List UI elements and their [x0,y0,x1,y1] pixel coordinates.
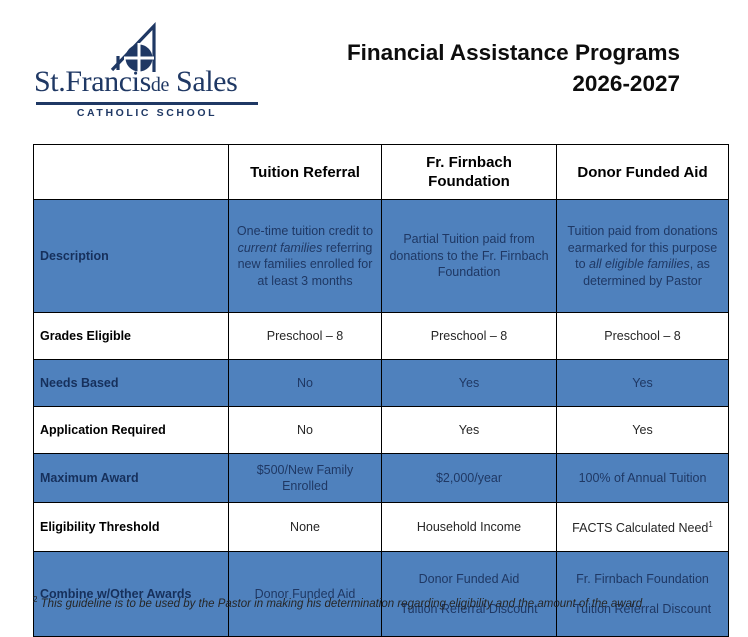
page-header: St.Francisde Sales CATHOLIC SCHOOL Finan… [0,0,748,132]
cell-description-firnbach: Partial Tuition paid from donations to t… [382,200,557,313]
desc-dn-em: all eligible families [589,257,690,271]
page-title: Financial Assistance Programs 2026-2027 [347,38,680,100]
logo-divider [36,102,258,105]
header-cell-tuition-referral: Tuition Referral [229,145,382,200]
logo-subtitle: CATHOLIC SCHOOL [34,107,260,119]
table-row-maximum-award: Maximum Award $500/New Family Enrolled $… [34,454,729,503]
cell-description-tuition-referral: One-time tuition credit to current famil… [229,200,382,313]
cell-eligibility-donor: FACTS Calculated Need1 [557,503,729,552]
cell-description-donor: Tuition paid from donations earmarked fo… [557,200,729,313]
table-row-needs-based: Needs Based No Yes Yes [34,360,729,407]
footnote-marker-1: 1 [708,520,712,529]
cell-max-award-tuition-referral: $500/New Family Enrolled [229,454,382,503]
logo-text-sales: Sales [176,65,237,98]
cell-needs-tuition-referral: No [229,360,382,407]
programs-table-container: Tuition Referral Fr. Firnbach Foundation… [33,144,728,637]
table-row-application-required: Application Required No Yes Yes [34,407,729,454]
row-label-maximum-award: Maximum Award [34,454,229,503]
cell-grades-donor: Preschool – 8 [557,313,729,360]
cell-max-award-donor: 100% of Annual Tuition [557,454,729,503]
cell-eligibility-firnbach: Household Income [382,503,557,552]
row-label-description: Description [34,200,229,313]
desc-tr-em: current families [238,241,323,255]
page-title-line2: 2026-2027 [347,68,680,100]
combine-donor-line1: Fr. Firnbach Foundation [563,571,722,588]
cell-eligibility-donor-text: FACTS Calculated Need [572,521,708,535]
financial-assistance-programs-table: Tuition Referral Fr. Firnbach Foundation… [33,144,729,637]
cell-needs-donor: Yes [557,360,729,407]
row-label-needs-based: Needs Based [34,360,229,407]
logo-text-st: St. [34,65,65,98]
desc-tr-pre: One-time tuition credit to [237,224,373,238]
table-header-row: Tuition Referral Fr. Firnbach Foundation… [34,145,729,200]
logo-text-de: de [151,74,169,96]
row-label-application-required: Application Required [34,407,229,454]
page-title-line1: Financial Assistance Programs [347,38,680,68]
row-label-grades-eligible: Grades Eligible [34,313,229,360]
cell-eligibility-tuition-referral: None [229,503,382,552]
logo-text-francis: Francis [65,65,151,98]
table-row-description: Description One-time tuition credit to c… [34,200,729,313]
footnote: 2 This guideline is to be used by the Pa… [33,592,673,612]
cell-application-donor: Yes [557,407,729,454]
table-row-grades-eligible: Grades Eligible Preschool – 8 Preschool … [34,313,729,360]
cell-application-tuition-referral: No [229,407,382,454]
school-logo: St.Francisde Sales CATHOLIC SCHOOL [34,22,264,122]
cell-needs-firnbach: Yes [382,360,557,407]
header-cell-firnbach-foundation: Fr. Firnbach Foundation [382,145,557,200]
footnote-text: This guideline is to be used by the Past… [41,598,643,610]
header-cell-blank [34,145,229,200]
cell-max-award-firnbach: $2,000/year [382,454,557,503]
footnote-marker-2: 2 [33,595,37,604]
row-label-eligibility-threshold: Eligibility Threshold [34,503,229,552]
header-cell-donor-funded-aid: Donor Funded Aid [557,145,729,200]
logo-wordmark: St.Francisde Sales [34,66,260,101]
table-row-eligibility-threshold: Eligibility Threshold None Household Inc… [34,503,729,552]
combine-firnbach-line1: Donor Funded Aid [388,571,550,588]
cell-application-firnbach: Yes [382,407,557,454]
cell-grades-firnbach: Preschool – 8 [382,313,557,360]
cell-grades-tuition-referral: Preschool – 8 [229,313,382,360]
